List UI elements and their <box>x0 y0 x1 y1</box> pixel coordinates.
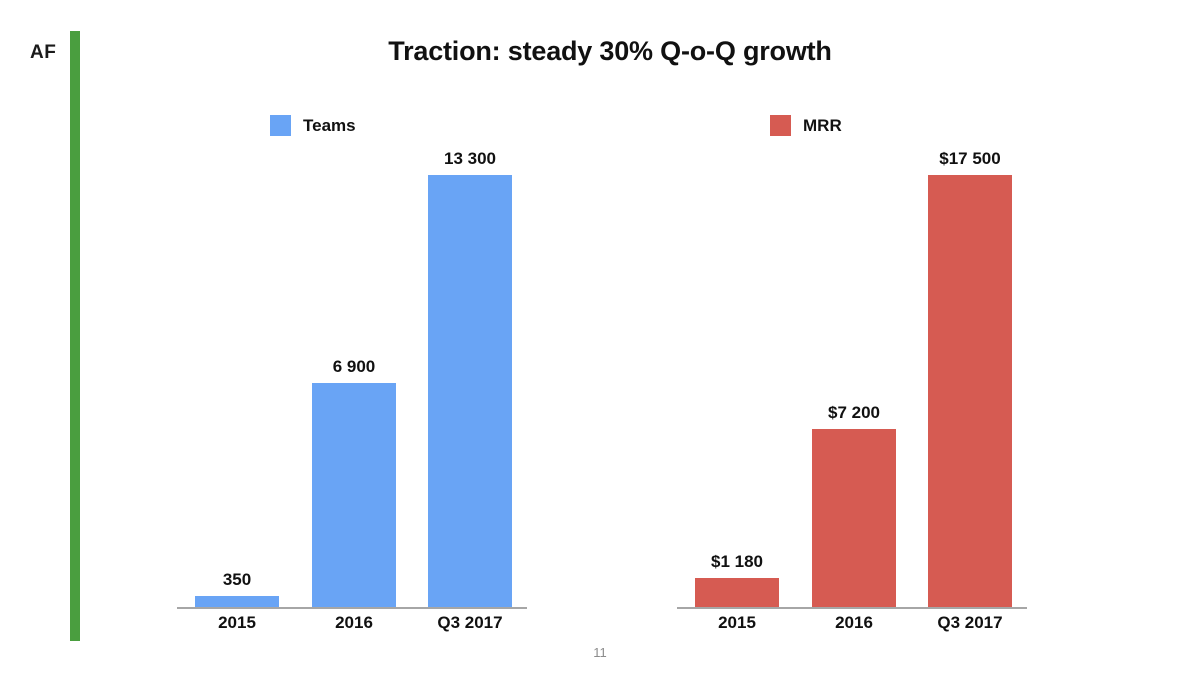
presentation-slide: AF Traction: steady 30% Q-o-Q growth Tea… <box>0 0 1200 675</box>
bar-group-q3-2017: $17 500 <box>928 155 1012 607</box>
bar-group-2015: $1 180 <box>695 155 779 607</box>
x-axis-label: Q3 2017 <box>900 613 1040 633</box>
legend-label-mrr: MRR <box>803 116 842 136</box>
bar-value-label: $1 180 <box>667 552 807 572</box>
bars-teams: 350 6 900 13 300 <box>177 155 527 607</box>
chart-mrr: MRR $1 180 $7 200 $17 500 2015 <box>660 100 1050 645</box>
bar-group-2016: 6 900 <box>312 155 396 607</box>
legend-swatch-mrr <box>770 115 791 136</box>
legend-label-teams: Teams <box>303 116 356 136</box>
page-number: 11 <box>0 645 1200 660</box>
bar-value-label: 6 900 <box>284 357 424 377</box>
bar-rect[interactable] <box>195 596 279 607</box>
bar-rect[interactable] <box>812 429 896 607</box>
bar-value-label: 13 300 <box>400 149 540 169</box>
brand-accent-bar <box>70 31 80 641</box>
brand-logo: AF <box>30 40 66 66</box>
bar-value-label: $17 500 <box>900 149 1040 169</box>
legend-mrr: MRR <box>770 115 842 136</box>
page-title: Traction: steady 30% Q-o-Q growth <box>110 36 1110 67</box>
x-axis-labels-mrr: 2015 2016 Q3 2017 <box>677 613 1027 639</box>
bar-group-2015: 350 <box>195 155 279 607</box>
x-axis-line <box>177 607 527 609</box>
bar-group-2016: $7 200 <box>812 155 896 607</box>
x-axis-labels-teams: 2015 2016 Q3 2017 <box>177 613 527 639</box>
bar-rect[interactable] <box>695 578 779 607</box>
bar-group-q3-2017: 13 300 <box>428 155 512 607</box>
bar-rect[interactable] <box>928 175 1012 607</box>
bar-value-label: $7 200 <box>784 403 924 423</box>
x-axis-label: Q3 2017 <box>400 613 540 633</box>
bar-value-label: 350 <box>167 570 307 590</box>
bar-rect[interactable] <box>428 175 512 607</box>
x-axis-line <box>677 607 1027 609</box>
bars-mrr: $1 180 $7 200 $17 500 <box>677 155 1027 607</box>
legend-teams: Teams <box>270 115 356 136</box>
legend-swatch-teams <box>270 115 291 136</box>
plot-area-mrr: $1 180 $7 200 $17 500 <box>677 155 1027 609</box>
chart-teams: Teams 350 6 900 13 300 2015 <box>160 100 550 645</box>
plot-area-teams: 350 6 900 13 300 <box>177 155 527 609</box>
bar-rect[interactable] <box>312 383 396 607</box>
